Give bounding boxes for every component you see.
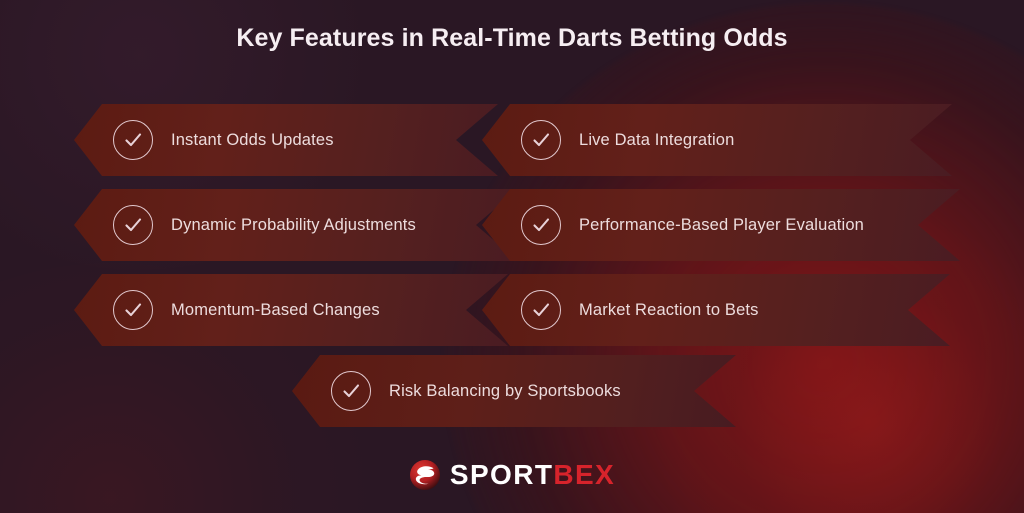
check-circle-icon [113,290,153,330]
feature-label: Market Reaction to Bets [579,301,759,320]
infographic-canvas: Key Features in Real-Time Darts Betting … [0,0,1024,513]
feature-label: Dynamic Probability Adjustments [171,216,416,235]
feature-banner-risk-balancing-by-sportsbooks[interactable]: Risk Balancing by Sportsbooks [292,355,736,427]
check-circle-icon [113,120,153,160]
logo-wordmark: SPORTBEX [450,461,615,489]
check-circle-icon [521,120,561,160]
feature-label: Momentum-Based Changes [171,301,380,320]
sportbex-swoosh-icon [409,459,441,491]
check-circle-icon [521,205,561,245]
feature-label: Live Data Integration [579,131,734,150]
brand-logo[interactable]: SPORTBEX [0,459,1024,491]
feature-banner-performance-based-player-evaluation[interactable]: Performance-Based Player Evaluation [482,189,960,261]
page-title: Key Features in Real-Time Darts Betting … [0,24,1024,53]
feature-banner-momentum-based-changes[interactable]: Momentum-Based Changes [74,274,508,346]
feature-banner-dynamic-probability-adjustments[interactable]: Dynamic Probability Adjustments [74,189,518,261]
feature-label: Performance-Based Player Evaluation [579,216,864,235]
logo-text-accent: BEX [553,459,615,490]
feature-banner-market-reaction-to-bets[interactable]: Market Reaction to Bets [482,274,950,346]
feature-label: Risk Balancing by Sportsbooks [389,382,621,401]
feature-banner-instant-odds-updates[interactable]: Instant Odds Updates [74,104,498,176]
feature-banner-live-data-integration[interactable]: Live Data Integration [482,104,952,176]
check-circle-icon [521,290,561,330]
feature-label: Instant Odds Updates [171,131,334,150]
check-circle-icon [113,205,153,245]
logo-text-primary: SPORT [450,459,553,490]
check-circle-icon [331,371,371,411]
